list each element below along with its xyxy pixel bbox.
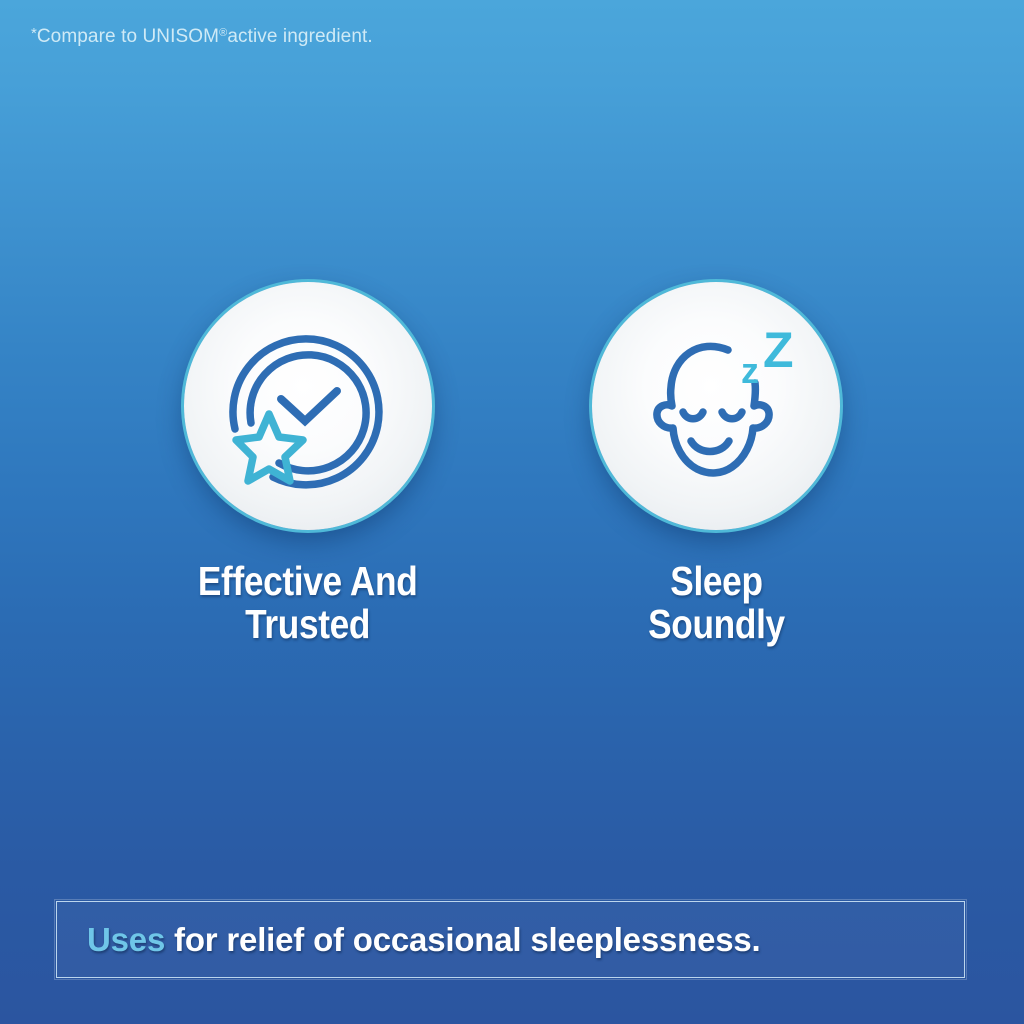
feature-item-effective-and-trusted: Effective And Trusted: [178, 282, 438, 646]
clock-star-icon: [213, 311, 403, 501]
uses-banner-text: Uses for relief of occasional sleeplessn…: [57, 921, 761, 959]
feature-label-line-1: Sleep: [648, 560, 785, 603]
uses-body-text: for relief of occasional sleeplessness.: [165, 921, 760, 958]
disclaimer-tail-text: active ingredient.: [227, 26, 372, 47]
disclaimer-brand-text: Compare to UNISOM: [37, 26, 219, 47]
uses-keyword: Uses: [87, 921, 165, 958]
feature-label: Effective And Trusted: [198, 560, 418, 646]
zz-letters: z Z: [741, 322, 794, 391]
feature-icon-disc: [184, 282, 432, 530]
feature-item-sleep-soundly: z Z Sleep Soundly: [586, 282, 846, 646]
feature-label: Sleep Soundly: [648, 560, 785, 646]
svg-text:z: z: [741, 350, 759, 391]
feature-icon-disc: z Z: [592, 282, 840, 530]
feature-label-line-1: Effective And: [198, 560, 418, 603]
svg-text:Z: Z: [763, 322, 794, 378]
feature-list: Effective And Trusted: [0, 282, 1024, 646]
product-feature-graphic: *Compare to UNISOM®active ingredient.: [0, 0, 1024, 1024]
feature-label-line-2: Trusted: [198, 603, 418, 646]
feature-label-line-2: Soundly: [648, 603, 785, 646]
sleeping-face-zz-icon: z Z: [621, 311, 811, 501]
uses-banner: Uses for relief of occasional sleeplessn…: [56, 901, 965, 978]
disclaimer-text: *Compare to UNISOM®active ingredient.: [31, 25, 373, 48]
